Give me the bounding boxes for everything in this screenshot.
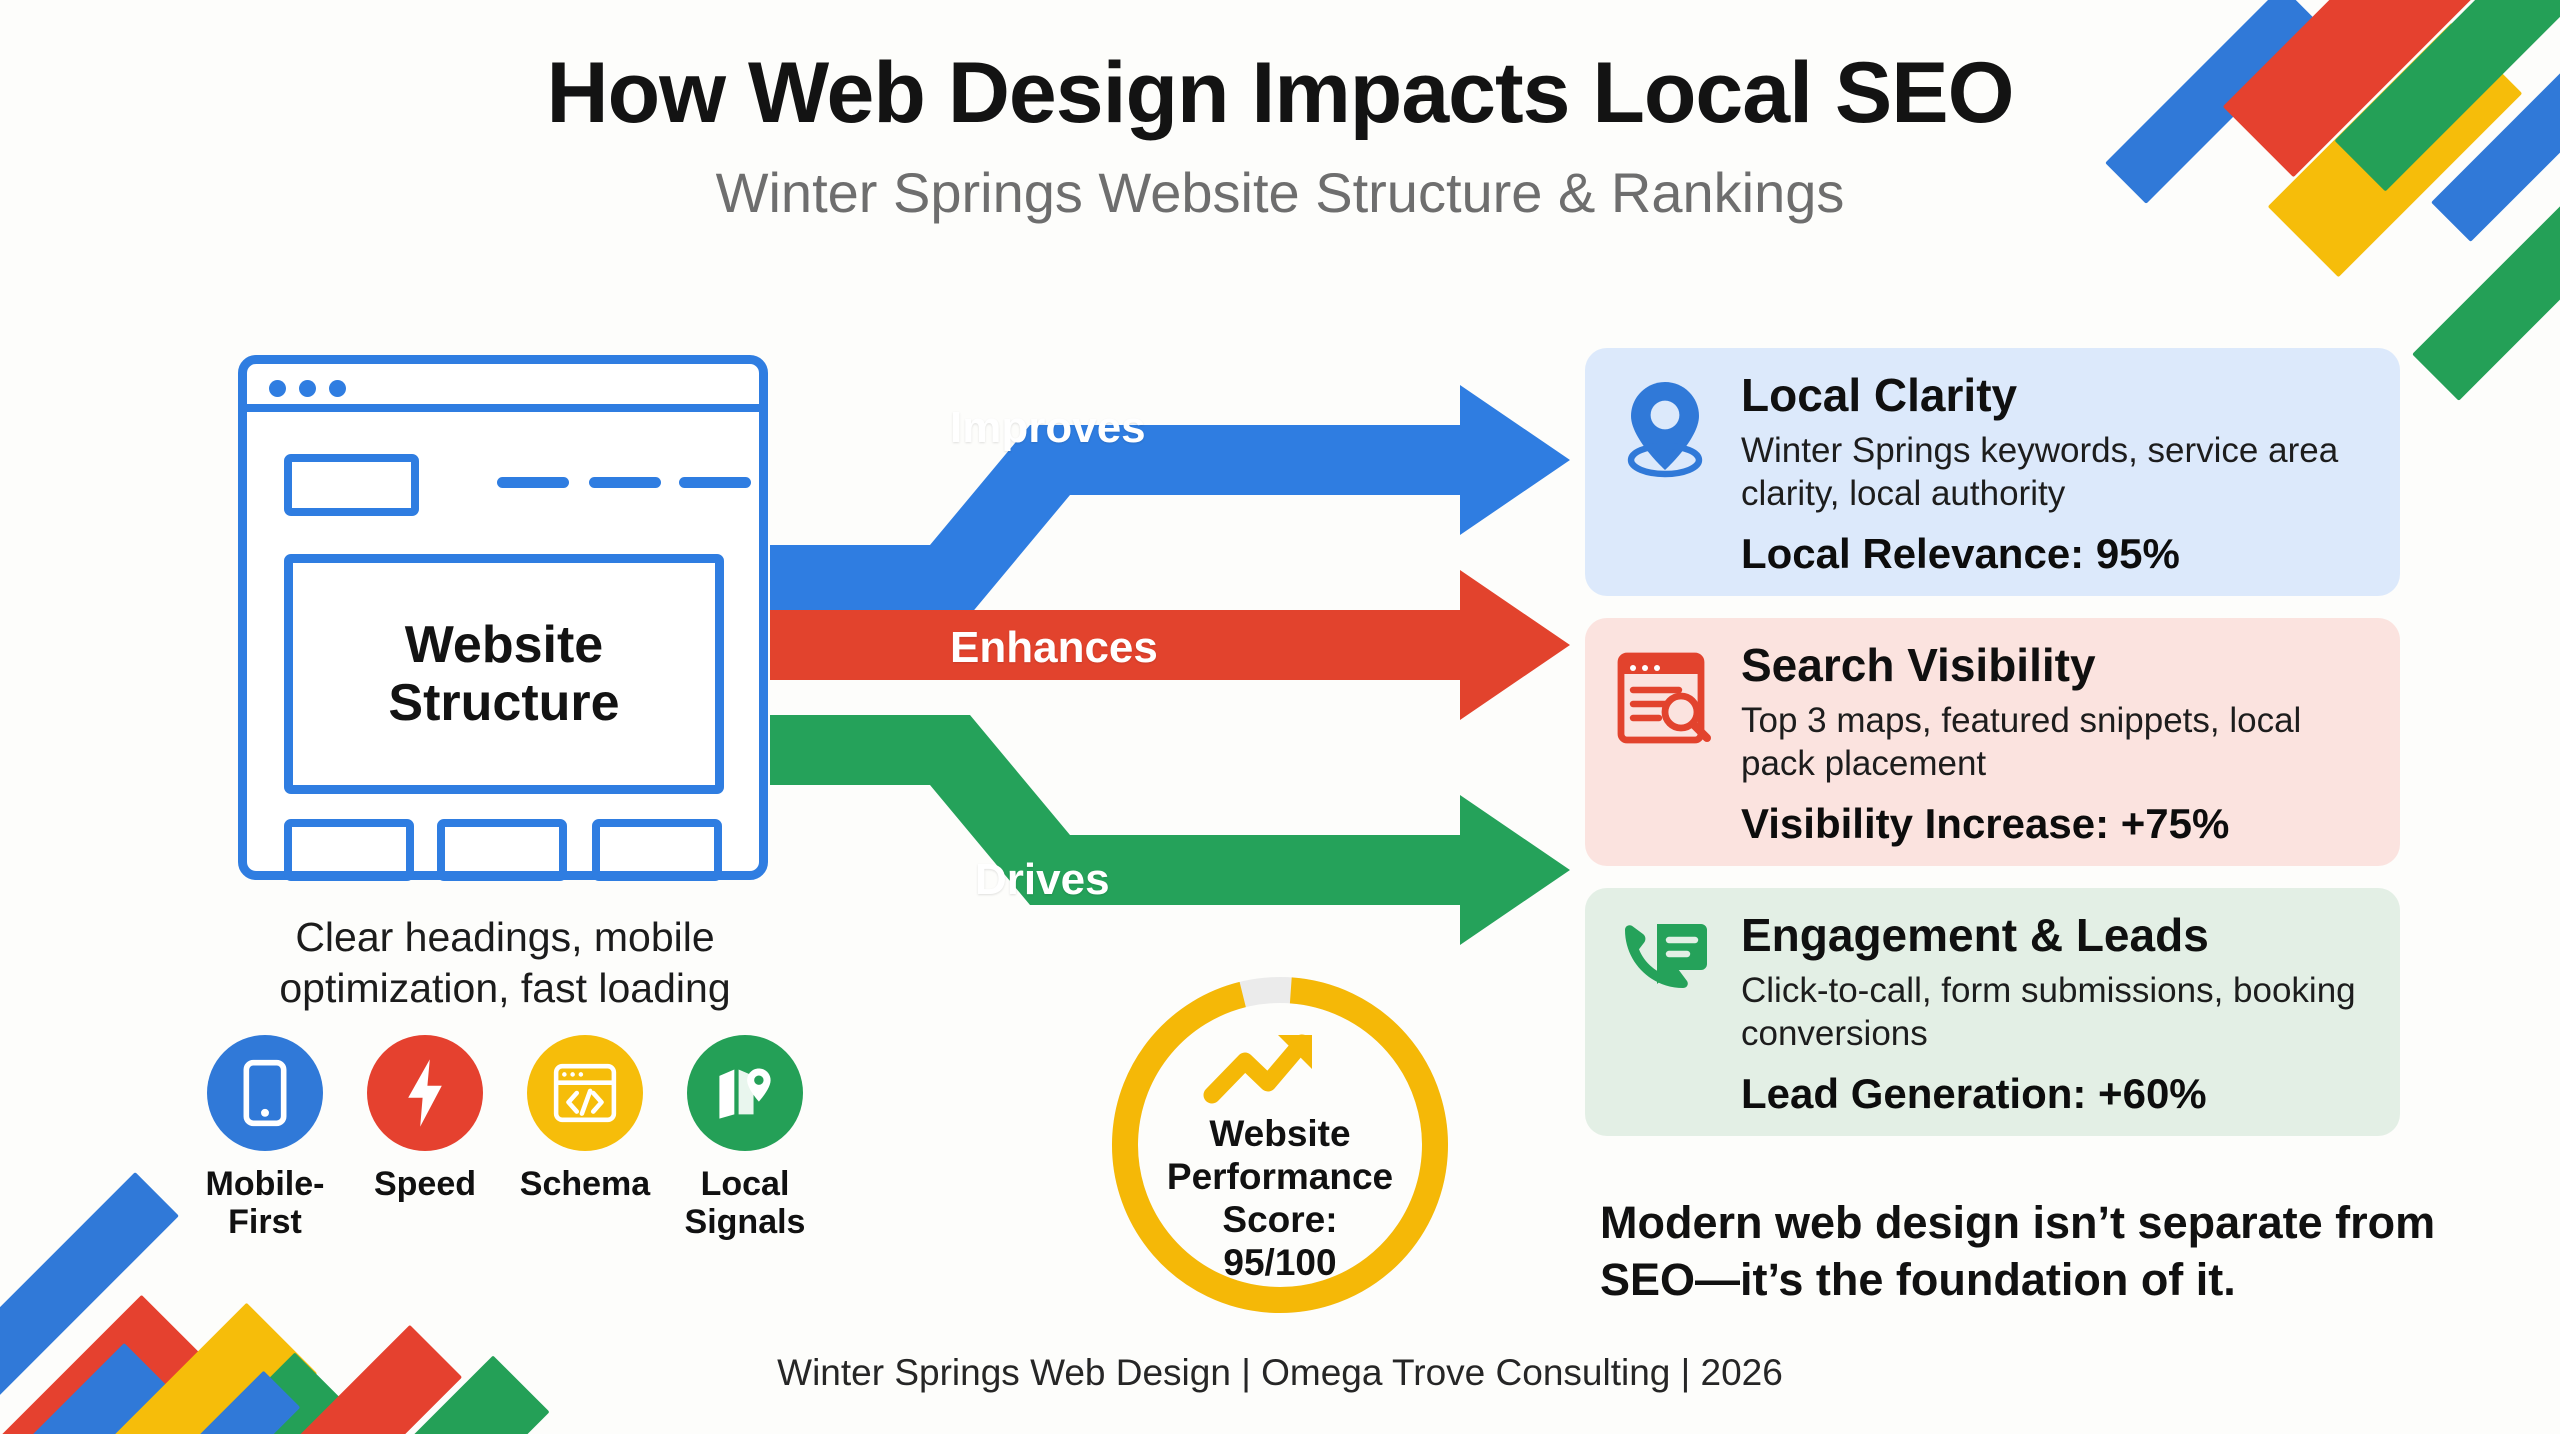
website-structure-mock: Website Structure — [238, 355, 768, 880]
arrow-label-drives: Drives — [975, 855, 1110, 905]
mock-navlink-1 — [497, 477, 569, 488]
arrow-flow-group: Improves Enhances Drives — [770, 355, 1580, 975]
feature-speed[interactable]: Speed — [345, 1035, 505, 1241]
mock-logo-box — [284, 454, 419, 516]
feature-icon-row: Mobile-First Speed Schema — [185, 1035, 825, 1241]
code-window-icon — [527, 1035, 643, 1151]
window-dot-3 — [329, 380, 346, 397]
phone-message-icon — [1615, 910, 1719, 1027]
card-search-visibility[interactable]: Search Visibility Top 3 maps, featured s… — [1585, 618, 2400, 866]
closing-statement: Modern web design isn’t separate from SE… — [1600, 1195, 2440, 1308]
gauge-score-value: 95/100 — [1100, 1242, 1460, 1285]
page-subtitle: Winter Springs Website Structure & Ranki… — [0, 162, 2560, 224]
impact-card-list: Local Clarity Winter Springs keywords, s… — [1585, 348, 2400, 1158]
card-metric: Visibility Increase: +75% — [1741, 800, 2370, 848]
mock-navlink-2 — [589, 477, 661, 488]
card-metric: Lead Generation: +60% — [1741, 1070, 2370, 1118]
header: How Web Design Impacts Local SEO Winter … — [0, 48, 2560, 224]
card-body: Search Visibility Top 3 maps, featured s… — [1741, 640, 2370, 848]
mock-hero-area: Website Structure — [284, 554, 724, 794]
feature-label: Schema — [505, 1165, 665, 1203]
feature-mobile-first[interactable]: Mobile-First — [185, 1035, 345, 1241]
infographic-canvas: How Web Design Impacts Local SEO Winter … — [0, 0, 2560, 1434]
browser-titlebar — [247, 364, 759, 412]
map-pin-fold-icon — [687, 1035, 803, 1151]
website-structure-label: Website Structure — [293, 616, 715, 732]
feature-label: Local Signals — [665, 1165, 825, 1241]
card-local-clarity[interactable]: Local Clarity Winter Springs keywords, s… — [1585, 348, 2400, 596]
card-title: Local Clarity — [1741, 370, 2370, 421]
search-document-icon — [1615, 640, 1719, 757]
gauge-label-line2: Performance — [1100, 1156, 1460, 1199]
mock-navlink-3 — [679, 477, 751, 488]
mobile-phone-icon — [207, 1035, 323, 1151]
footer-credit: Winter Springs Web Design | Omega Trove … — [0, 1352, 2560, 1394]
feature-local-signals[interactable]: Local Signals — [665, 1035, 825, 1241]
page-title: How Web Design Impacts Local SEO — [0, 48, 2560, 138]
gauge-label-line3: Score: — [1100, 1199, 1460, 1242]
card-body: Local Clarity Winter Springs keywords, s… — [1741, 370, 2370, 578]
card-description: Click-to-call, form submissions, booking… — [1741, 969, 2370, 1057]
card-title: Search Visibility — [1741, 640, 2370, 691]
feature-label: Speed — [345, 1165, 505, 1203]
gauge-label: Website Performance Score: 95/100 — [1100, 1113, 1460, 1285]
location-pin-icon — [1615, 370, 1719, 487]
card-engagement-leads[interactable]: Engagement & Leads Click-to-call, form s… — [1585, 888, 2400, 1136]
arrow-label-improves: Improves — [950, 403, 1146, 453]
window-dot-2 — [299, 380, 316, 397]
feature-label: Mobile-First — [185, 1165, 345, 1241]
arrow-label-enhances: Enhances — [950, 623, 1158, 673]
lightning-bolt-icon — [367, 1035, 483, 1151]
card-body: Engagement & Leads Click-to-call, form s… — [1741, 910, 2370, 1118]
gauge-label-line1: Website — [1100, 1113, 1460, 1156]
structure-caption: Clear headings, mobile optimization, fas… — [220, 912, 790, 1014]
mock-tile-1 — [284, 819, 414, 881]
mock-tile-3 — [592, 819, 722, 881]
card-metric: Local Relevance: 95% — [1741, 530, 2370, 578]
window-dot-1 — [269, 380, 286, 397]
mock-tile-2 — [437, 819, 567, 881]
card-description: Top 3 maps, featured snippets, local pac… — [1741, 699, 2370, 787]
card-description: Winter Springs keywords, service area cl… — [1741, 429, 2370, 517]
card-title: Engagement & Leads — [1741, 910, 2370, 961]
website-performance-gauge: Website Performance Score: 95/100 — [1100, 965, 1460, 1325]
feature-schema[interactable]: Schema — [505, 1035, 665, 1241]
